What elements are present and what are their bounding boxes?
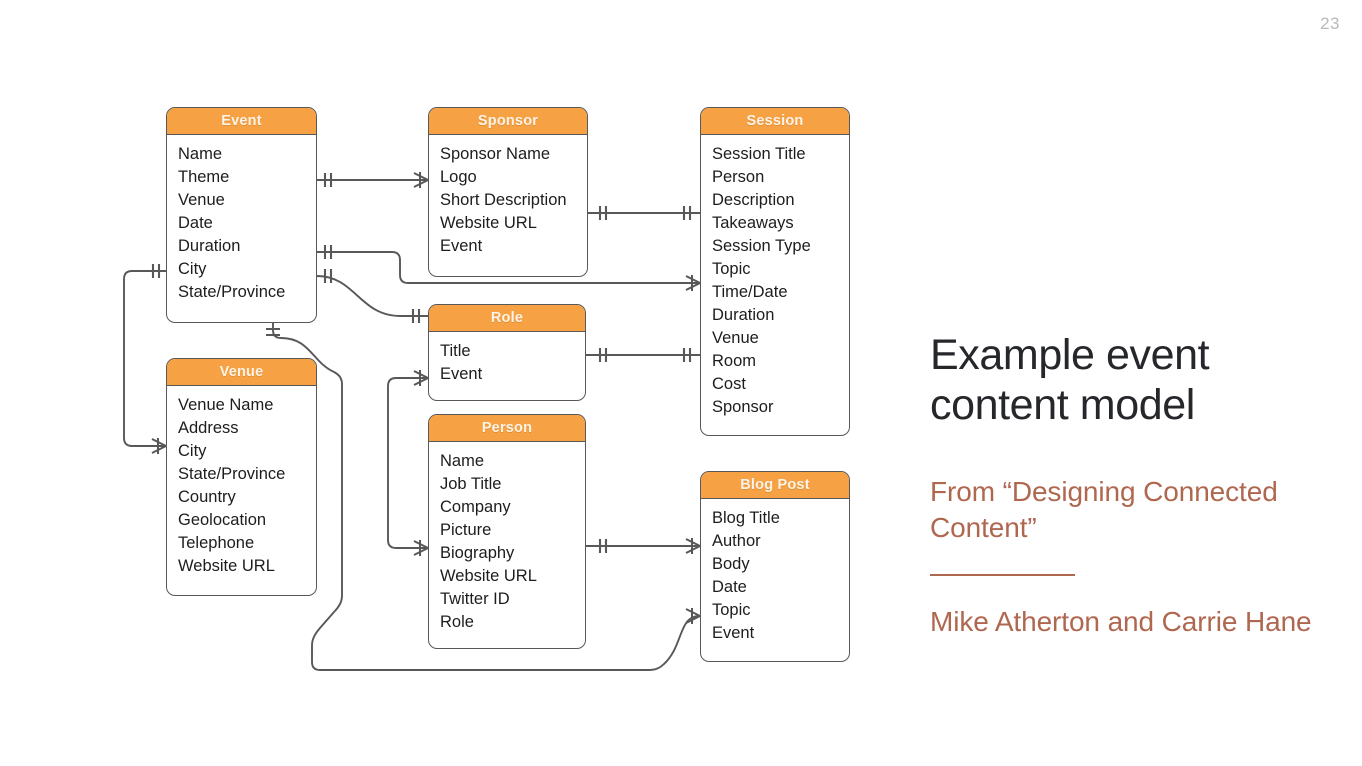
- notation-many: [414, 172, 428, 188]
- entity-event[interactable]: Event Name Theme Venue Date Duration Cit…: [166, 107, 317, 323]
- field: Sponsor Name: [440, 143, 587, 166]
- field: Event: [440, 363, 585, 386]
- notation-many: [686, 538, 700, 554]
- entity-fields-event: Name Theme Venue Date Duration City Stat…: [167, 135, 316, 312]
- field: Website URL: [440, 212, 587, 235]
- field: Theme: [178, 166, 316, 189]
- field: Name: [440, 450, 585, 473]
- field: Takeaways: [712, 212, 849, 235]
- source-attribution: From “Designing Connected Content”: [930, 474, 1330, 546]
- field: City: [178, 440, 316, 463]
- field: Venue: [712, 327, 849, 350]
- field: Room: [712, 350, 849, 373]
- notation-many: [686, 275, 700, 291]
- slide: 23: [0, 0, 1362, 766]
- notation-one: [413, 309, 419, 323]
- field: Blog Title: [712, 507, 849, 530]
- entity-sponsor[interactable]: Sponsor Sponsor Name Logo Short Descript…: [428, 107, 588, 277]
- notation-one: [600, 206, 606, 220]
- entity-role[interactable]: Role Title Event: [428, 304, 586, 401]
- field: Venue Name: [178, 394, 316, 417]
- field: Topic: [712, 599, 849, 622]
- field: Duration: [712, 304, 849, 327]
- field: Description: [712, 189, 849, 212]
- field: Sponsor: [712, 396, 849, 419]
- field: Session Title: [712, 143, 849, 166]
- notation-many: [686, 608, 700, 624]
- entity-session[interactable]: Session Session Title Person Description…: [700, 107, 850, 436]
- field: Time/Date: [712, 281, 849, 304]
- notation-many: [152, 438, 166, 454]
- field: Cost: [712, 373, 849, 396]
- field: Picture: [440, 519, 585, 542]
- entity-person[interactable]: Person Name Job Title Company Picture Bi…: [428, 414, 586, 649]
- field: Person: [712, 166, 849, 189]
- notation-one: [600, 348, 606, 362]
- entity-fields-session: Session Title Person Description Takeawa…: [701, 135, 849, 427]
- entity-title-venue: Venue: [167, 359, 316, 386]
- slide-title: Example event content model: [930, 330, 1330, 430]
- notation-one: [325, 173, 331, 187]
- notation-many: [414, 370, 428, 386]
- field: Website URL: [178, 555, 316, 578]
- field: Duration: [178, 235, 316, 258]
- field: Date: [712, 576, 849, 599]
- entity-venue[interactable]: Venue Venue Name Address City State/Prov…: [166, 358, 317, 596]
- entity-fields-blog-post: Blog Title Author Body Date Topic Event: [701, 499, 849, 653]
- entity-fields-role: Title Event: [429, 332, 585, 394]
- entity-title-role: Role: [429, 305, 585, 332]
- notation-one: [684, 348, 690, 362]
- field: Name: [178, 143, 316, 166]
- entity-blog-post[interactable]: Blog Post Blog Title Author Body Date To…: [700, 471, 850, 662]
- field: Venue: [178, 189, 316, 212]
- notation-one: [325, 245, 331, 259]
- field: Title: [440, 340, 585, 363]
- field: Country: [178, 486, 316, 509]
- entity-title-blog-post: Blog Post: [701, 472, 849, 499]
- entity-title-sponsor: Sponsor: [429, 108, 587, 135]
- field: Topic: [712, 258, 849, 281]
- field: Body: [712, 553, 849, 576]
- rel-person-role: [388, 378, 428, 548]
- authors: Mike Atherton and Carrie Hane: [930, 604, 1330, 640]
- page-number: 23: [1320, 14, 1340, 34]
- divider-rule: [930, 574, 1075, 576]
- field: Job Title: [440, 473, 585, 496]
- entity-title-session: Session: [701, 108, 849, 135]
- field: Role: [440, 611, 585, 634]
- field: Event: [440, 235, 587, 258]
- field: Date: [178, 212, 316, 235]
- entity-title-event: Event: [167, 108, 316, 135]
- entity-title-person: Person: [429, 415, 585, 442]
- field: Twitter ID: [440, 588, 585, 611]
- field: Logo: [440, 166, 587, 189]
- field: City: [178, 258, 316, 281]
- rel-event-venue: [124, 271, 166, 446]
- notation-one: [266, 329, 280, 335]
- field: State/Province: [178, 281, 316, 304]
- field: Biography: [440, 542, 585, 565]
- entity-fields-sponsor: Sponsor Name Logo Short Description Webs…: [429, 135, 587, 266]
- er-diagram: Event Name Theme Venue Date Duration Cit…: [0, 0, 900, 766]
- notation-one: [153, 264, 159, 278]
- field: Geolocation: [178, 509, 316, 532]
- notation-many: [414, 540, 428, 556]
- notation-one: [684, 206, 690, 220]
- field: Author: [712, 530, 849, 553]
- notation-one: [600, 539, 606, 553]
- field: Event: [712, 622, 849, 645]
- field: Company: [440, 496, 585, 519]
- text-panel: Example event content model From “Design…: [930, 330, 1330, 640]
- field: Session Type: [712, 235, 849, 258]
- field: Short Description: [440, 189, 587, 212]
- field: State/Province: [178, 463, 316, 486]
- field: Website URL: [440, 565, 585, 588]
- field: Telephone: [178, 532, 316, 555]
- field: Address: [178, 417, 316, 440]
- rel-event-role: [317, 276, 428, 316]
- entity-fields-person: Name Job Title Company Picture Biography…: [429, 442, 585, 642]
- entity-fields-venue: Venue Name Address City State/Province C…: [167, 386, 316, 586]
- notation-one: [325, 269, 331, 283]
